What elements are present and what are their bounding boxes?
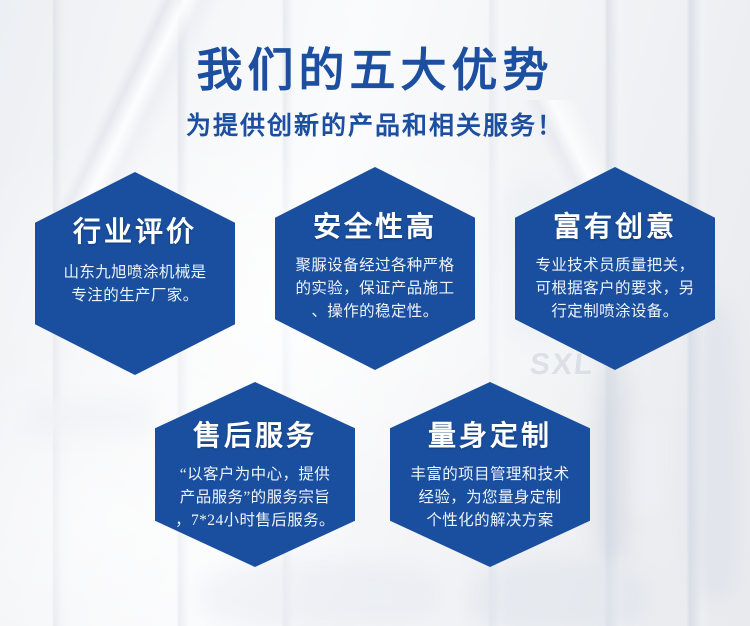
advantage-title: 安全性高 — [313, 205, 437, 245]
advantage-body-line: 行定制喷涂设备。 — [518, 301, 712, 324]
advantage-body: 丰富的项目管理和技术经验，为您量身定制个性化的解决方案 — [394, 464, 586, 533]
advantage-body-line: 、操作的稳定性。 — [279, 301, 471, 324]
advantage-body: “以客户为中心，提供产品服务”的服务宗旨，7*24小时售后服务。 — [157, 464, 353, 533]
advantage-body-line: ，7*24小时售后服务。 — [157, 510, 353, 533]
page-subtitle: 为提供创新的产品和相关服务！ — [0, 106, 750, 142]
advantage-body: 专业技术员质量把关，可根据客户的要求，另行定制喷涂设备。 — [518, 255, 712, 324]
advantage-title: 售后服务 — [193, 414, 317, 454]
advantage-body-line: 专注的生产厂家。 — [45, 285, 225, 308]
advantage-title: 行业评价 — [73, 210, 197, 250]
advantage-body-line: 产品服务”的服务宗旨 — [157, 487, 353, 510]
advantage-title: 量身定制 — [428, 414, 552, 454]
advantage-body-line: 专业技术员质量把关， — [518, 255, 712, 278]
heading-block: 我们的五大优势 为提供创新的产品和相关服务！ — [0, 44, 750, 142]
advantage-body-line: 山东九旭喷涂机械是 — [45, 262, 225, 285]
advantage-body-line: 聚脲设备经过各种严格 — [279, 255, 471, 278]
advantage-body-line: 经验，为您量身定制 — [394, 487, 586, 510]
advantage-body-line: 个性化的解决方案 — [394, 510, 586, 533]
advantage-body-line: 的实验，保证产品施工 — [279, 278, 471, 301]
advantage-body-line: 丰富的项目管理和技术 — [394, 464, 586, 487]
advantage-body: 聚脲设备经过各种严格的实验，保证产品施工、操作的稳定性。 — [279, 255, 471, 324]
advantage-body-line: “以客户为中心，提供 — [157, 464, 353, 487]
advantage-title: 富有创意 — [553, 205, 677, 245]
advantages-banner: SXL 我们的五大优势 为提供创新的产品和相关服务！ 行业评价 山东九旭喷涂机械… — [0, 0, 750, 626]
advantage-body: 山东九旭喷涂机械是专注的生产厂家。 — [45, 262, 225, 308]
page-title: 我们的五大优势 — [0, 44, 750, 98]
advantage-body-line: 可根据客户的要求，另 — [518, 278, 712, 301]
